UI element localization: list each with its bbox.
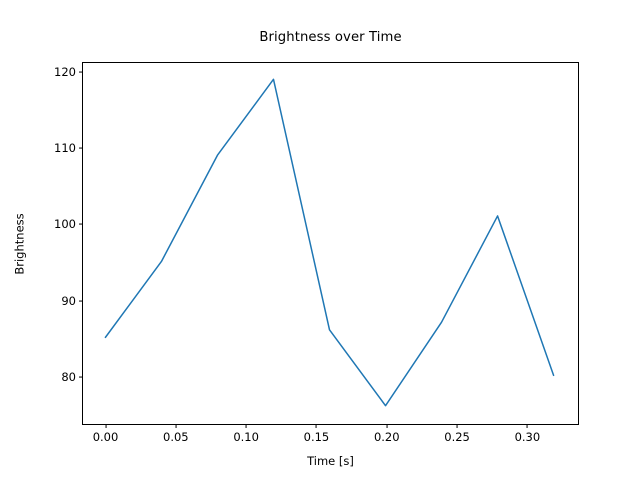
x-tick-label: 0.15	[304, 424, 330, 444]
chart-title: Brightness over Time	[82, 30, 579, 45]
x-tick-label: 0.25	[444, 424, 470, 444]
y-tick-label: 80	[61, 370, 83, 384]
x-axis-label: Time [s]	[82, 454, 579, 468]
y-tick-label: 110	[54, 141, 83, 155]
y-tick-label: 120	[54, 65, 83, 79]
y-axis-label-text: Brightness	[13, 213, 27, 274]
brightness-line	[105, 79, 553, 405]
y-tick-label: 100	[54, 217, 83, 231]
line-plot	[83, 63, 578, 424]
x-tick-label: 0.00	[93, 424, 119, 444]
plot-axes: 80901001101200.000.050.100.150.200.250.3…	[82, 62, 579, 425]
x-tick-label: 0.30	[515, 424, 541, 444]
figure-canvas: Brightness over Time Brightness 80901001…	[0, 0, 640, 480]
y-tick-label: 90	[61, 294, 83, 308]
x-tick-label: 0.05	[163, 424, 189, 444]
y-axis-label: Brightness	[12, 62, 28, 425]
x-tick-label: 0.20	[374, 424, 400, 444]
x-tick-label: 0.10	[233, 424, 259, 444]
